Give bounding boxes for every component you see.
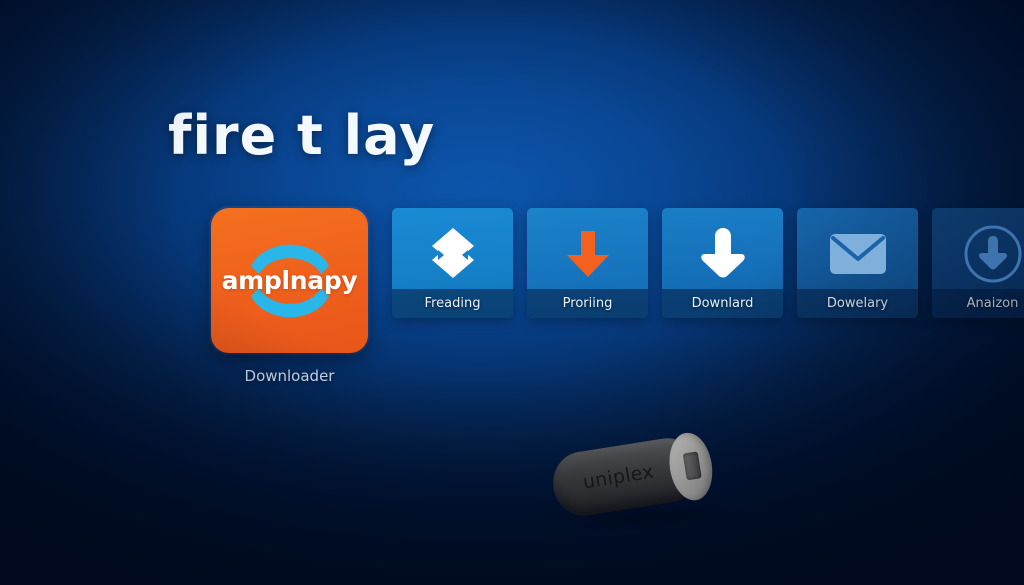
app-tile-proriing[interactable]: Proriing: [527, 208, 648, 318]
tv-home-screen: fire t lay amplnapy Downloader: [0, 0, 1024, 585]
proriing-tile[interactable]: Proriing: [527, 208, 648, 318]
app-row: amplnapy Downloader Freading: [211, 208, 1024, 385]
app-label-proriing: Proriing: [527, 289, 648, 318]
app-label-anaizon: Anaizon: [932, 289, 1024, 318]
anaizon-tile[interactable]: Anaizon: [932, 208, 1024, 318]
circled-download-arrow-icon: [962, 223, 1024, 285]
dowelary-tile[interactable]: Dowelary: [797, 208, 918, 318]
downloader-brand-text: amplnapy: [222, 266, 358, 295]
app-tile-downloader[interactable]: amplnapy Downloader: [211, 208, 368, 385]
freading-tile[interactable]: Freading: [392, 208, 513, 318]
downloader-app-icon[interactable]: amplnapy: [211, 208, 368, 353]
page-title: fire t lay: [168, 104, 435, 167]
app-label-downlard: Downlard: [662, 289, 783, 318]
download-arrow-icon: [559, 225, 617, 283]
app-tile-anaizon[interactable]: Anaizon: [932, 208, 1024, 318]
envelope-icon: [827, 230, 889, 278]
app-tile-downlard[interactable]: Downlard: [662, 208, 783, 318]
stacked-layers-icon: [422, 224, 484, 284]
app-caption-downloader: Downloader: [245, 367, 335, 385]
downlard-tile[interactable]: Downlard: [662, 208, 783, 318]
app-label-dowelary: Dowelary: [797, 289, 918, 318]
app-tile-dowelary[interactable]: Dowelary: [797, 208, 918, 318]
app-tile-freading[interactable]: Freading: [392, 208, 513, 318]
download-arrow-icon: [693, 224, 753, 284]
app-label-freading: Freading: [392, 289, 513, 318]
